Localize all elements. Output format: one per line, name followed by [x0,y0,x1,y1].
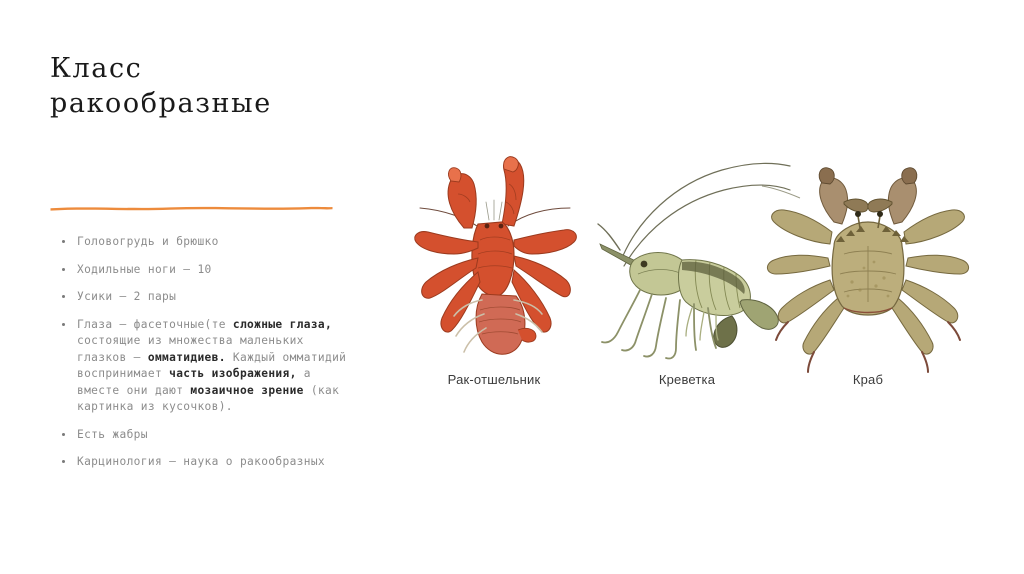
list-item: Усики – 2 пары [56,289,356,306]
list-item: Головогрудь и брюшко [56,234,356,251]
figure-hermit-crab: Рак-отшельник [394,150,594,385]
bullet-text-walking-legs: Ходильные ноги – 10 [77,263,212,276]
figure-crab: Краб [760,150,976,385]
plain-text: Есть жабры [77,428,148,441]
bullet-text-eyes: Глаза – фасеточные(те сложные глаза, сос… [77,318,346,414]
emphasis-text: мозаичное зрение [190,384,303,397]
figure-caption-hermit-crab: Рак-отшельник [394,372,594,387]
plain-text: Головогрудь и брюшко [77,235,219,248]
bullet-text-antennae: Усики – 2 пары [77,290,176,303]
bullet-text-carcinology: Карцинология – наука о ракообразных [77,455,325,468]
title-underline-rule [50,204,333,211]
list-item: Ходильные ноги – 10 [56,262,356,279]
list-item: Глаза – фасеточные(те сложные глаза, сос… [56,317,356,416]
slide-root: Класс ракообразные Головогрудь и брюшко … [0,0,1024,574]
plain-text: Усики – 2 пары [77,290,176,303]
emphasis-text: сложные глаза, [233,318,332,331]
bullet-text-cephalothorax: Головогрудь и брюшко [77,235,219,248]
figure-caption-crab: Краб [760,372,976,387]
crustacean-figure-group: Рак-отшельник [386,150,986,400]
page-title: Класс ракообразные [50,52,340,121]
left-content-column: Класс ракообразные [50,52,350,121]
plain-text: Ходильные ноги – 10 [77,263,212,276]
list-item: Карцинология – наука о ракообразных [56,454,356,471]
feature-bullet-list: Головогрудь и брюшко Ходильные ноги – 10… [56,234,356,471]
plain-text: Карцинология – наука о ракообразных [77,455,325,468]
plain-text: Глаза – фасеточные(те [77,318,233,331]
bullet-text-gills: Есть жабры [77,428,148,441]
emphasis-text: омматидиев. [148,351,226,364]
list-item: Есть жабры [56,427,356,444]
emphasis-text: часть изображения, [169,367,297,380]
